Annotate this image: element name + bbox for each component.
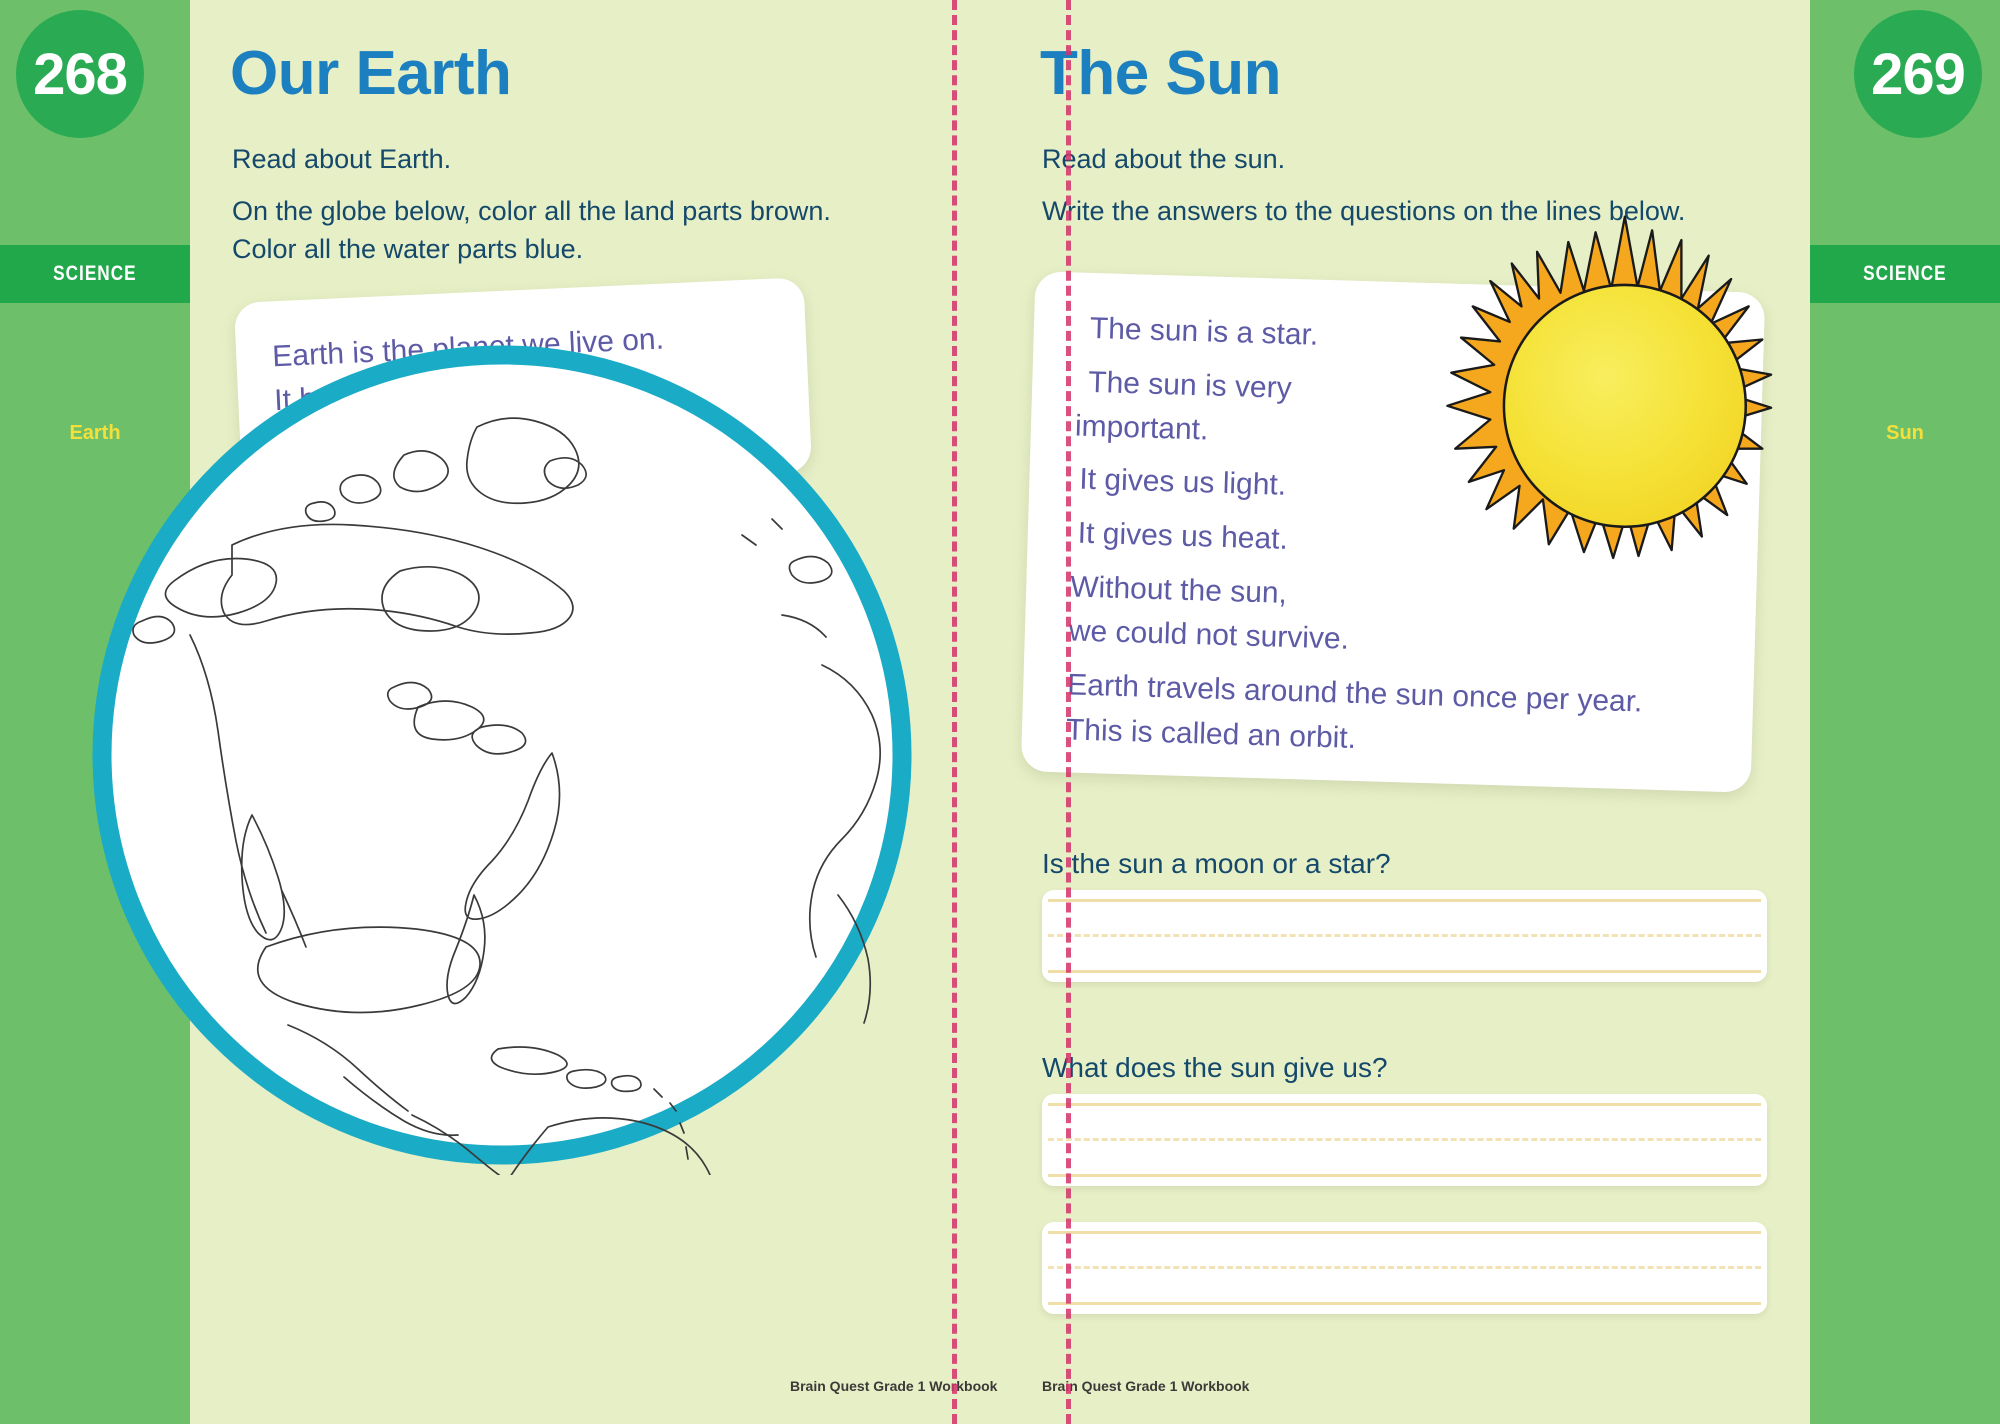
globe-illustration[interactable] xyxy=(82,335,922,1175)
topic-label-right: Sun xyxy=(1810,422,2000,445)
page-number-badge-left: 268 xyxy=(16,10,144,138)
rule-bottom xyxy=(1048,1302,1761,1305)
rule-top xyxy=(1048,1103,1761,1106)
instruction-sun-read: Read about the sun. xyxy=(1042,140,1285,178)
workbook-spread: 268 SCIENCE Earth Our Earth Read about E… xyxy=(0,0,2000,1424)
rule-top xyxy=(1048,1231,1761,1234)
answer-line-2a[interactable] xyxy=(1042,1094,1767,1186)
right-sidebar: 269 SCIENCE Sun xyxy=(1810,0,2000,1424)
gutter-dash-right xyxy=(1066,0,1071,1424)
rule-mid-dashed xyxy=(1048,1138,1761,1141)
footer-right: Brain Quest Grade 1 Workbook xyxy=(1042,1378,1249,1394)
page-number-left: 268 xyxy=(33,41,127,108)
rule-mid-dashed xyxy=(1048,934,1761,937)
subject-band-left: SCIENCE xyxy=(0,245,190,303)
sun-card-text: The sun is a star. The sun is very impor… xyxy=(1065,307,1688,781)
right-page: The Sun Read about the sun. Write the an… xyxy=(1000,0,1810,1424)
question-1-label: Is the sun a moon or a star? xyxy=(1042,848,1391,880)
instruction-earth-read: Read about Earth. xyxy=(232,140,451,178)
sun-card-line-4: It gives us light. xyxy=(1079,458,1684,520)
rule-top xyxy=(1048,899,1761,902)
instruction-earth-color: On the globe below, color all the land p… xyxy=(232,192,832,269)
page-title-earth: Our Earth xyxy=(230,38,511,109)
subject-label-left: SCIENCE xyxy=(53,262,136,286)
subject-label-right: SCIENCE xyxy=(1863,262,1946,286)
subject-band-right: SCIENCE xyxy=(1810,245,2000,303)
answer-line-1[interactable] xyxy=(1042,890,1767,982)
rule-bottom xyxy=(1048,970,1761,973)
gutter-dash-left xyxy=(952,0,957,1424)
rule-mid-dashed xyxy=(1048,1266,1761,1269)
sun-card-line-5: It gives us heat. xyxy=(1077,512,1682,574)
answer-line-2b[interactable] xyxy=(1042,1222,1767,1314)
page-number-right: 269 xyxy=(1871,41,1965,108)
rule-bottom xyxy=(1048,1174,1761,1177)
sun-card-line-1: The sun is a star. xyxy=(1089,307,1688,369)
footer-left: Brain Quest Grade 1 Workbook xyxy=(790,1378,997,1394)
left-page: Our Earth Read about Earth. On the globe… xyxy=(190,0,1000,1424)
question-2-label: What does the sun give us? xyxy=(1042,1052,1388,1084)
page-title-sun: The Sun xyxy=(1040,38,1281,109)
read-about-sun-card: The sun is a star. The sun is very impor… xyxy=(1021,271,1766,792)
page-number-badge-right: 269 xyxy=(1854,10,1982,138)
instruction-sun-write: Write the answers to the questions on th… xyxy=(1042,192,1702,230)
